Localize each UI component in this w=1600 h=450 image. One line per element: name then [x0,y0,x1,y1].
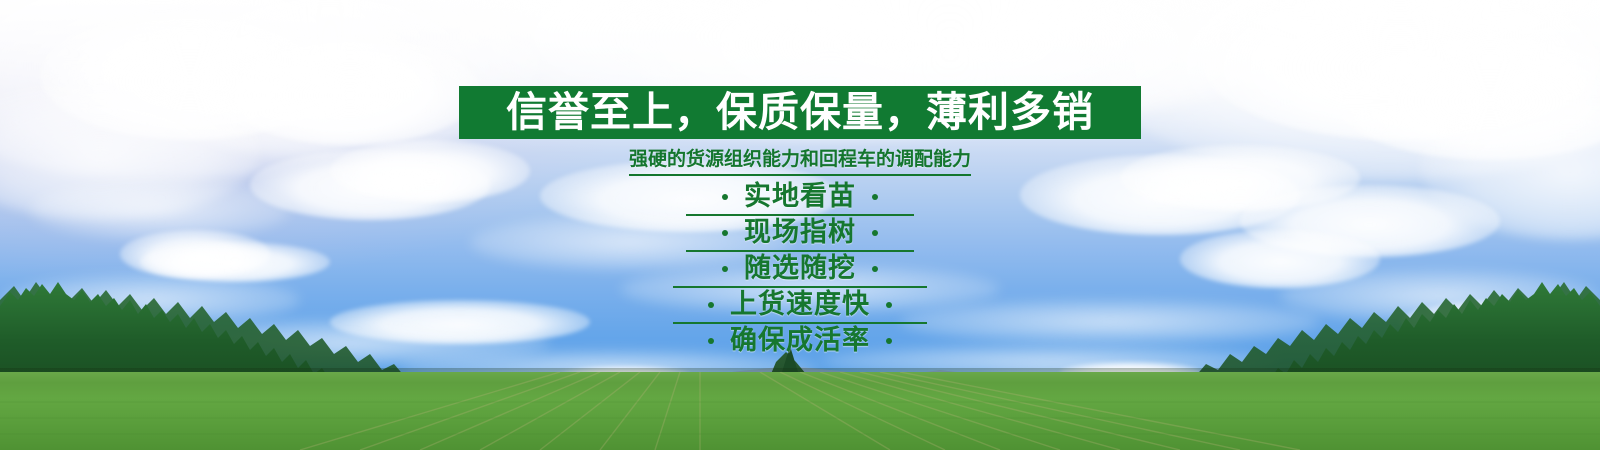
field-furrows [0,372,1600,450]
promo-banner: 信誉至上，保质保量，薄利多销 强硬的货源组织能力和回程车的调配能力 实地看苗 现… [0,0,1600,450]
feature-item: 实地看苗 [540,178,1060,214]
bullet-dot-icon [722,230,728,236]
bullet-dot-icon [886,338,892,344]
headline-text: 信誉至上，保质保量，薄利多销 [506,92,1094,133]
feature-label: 实地看苗 [744,183,856,210]
feature-label: 确保成活率 [730,327,870,354]
feature-label: 现场指树 [744,219,856,246]
feature-item: 现场指树 [540,214,1060,250]
feature-label: 上货速度快 [730,291,870,318]
bullet-dot-icon [722,266,728,272]
feature-item: 确保成活率 [540,322,1060,358]
feature-list: 实地看苗 现场指树 随选随挖 上货速度快 确保成活率 [540,178,1060,358]
feature-item: 上货速度快 [540,286,1060,322]
bullet-dot-icon [722,194,728,200]
feature-label: 随选随挖 [744,255,856,282]
bullet-dot-icon [708,338,714,344]
bullet-dot-icon [872,266,878,272]
bullet-dot-icon [708,302,714,308]
subtitle-text: 强硬的货源组织能力和回程车的调配能力 [629,144,971,176]
headline-banner: 信誉至上，保质保量，薄利多销 [459,86,1141,139]
bullet-dot-icon [872,230,878,236]
bullet-dot-icon [886,302,892,308]
feature-item: 随选随挖 [540,250,1060,286]
bullet-dot-icon [872,194,878,200]
